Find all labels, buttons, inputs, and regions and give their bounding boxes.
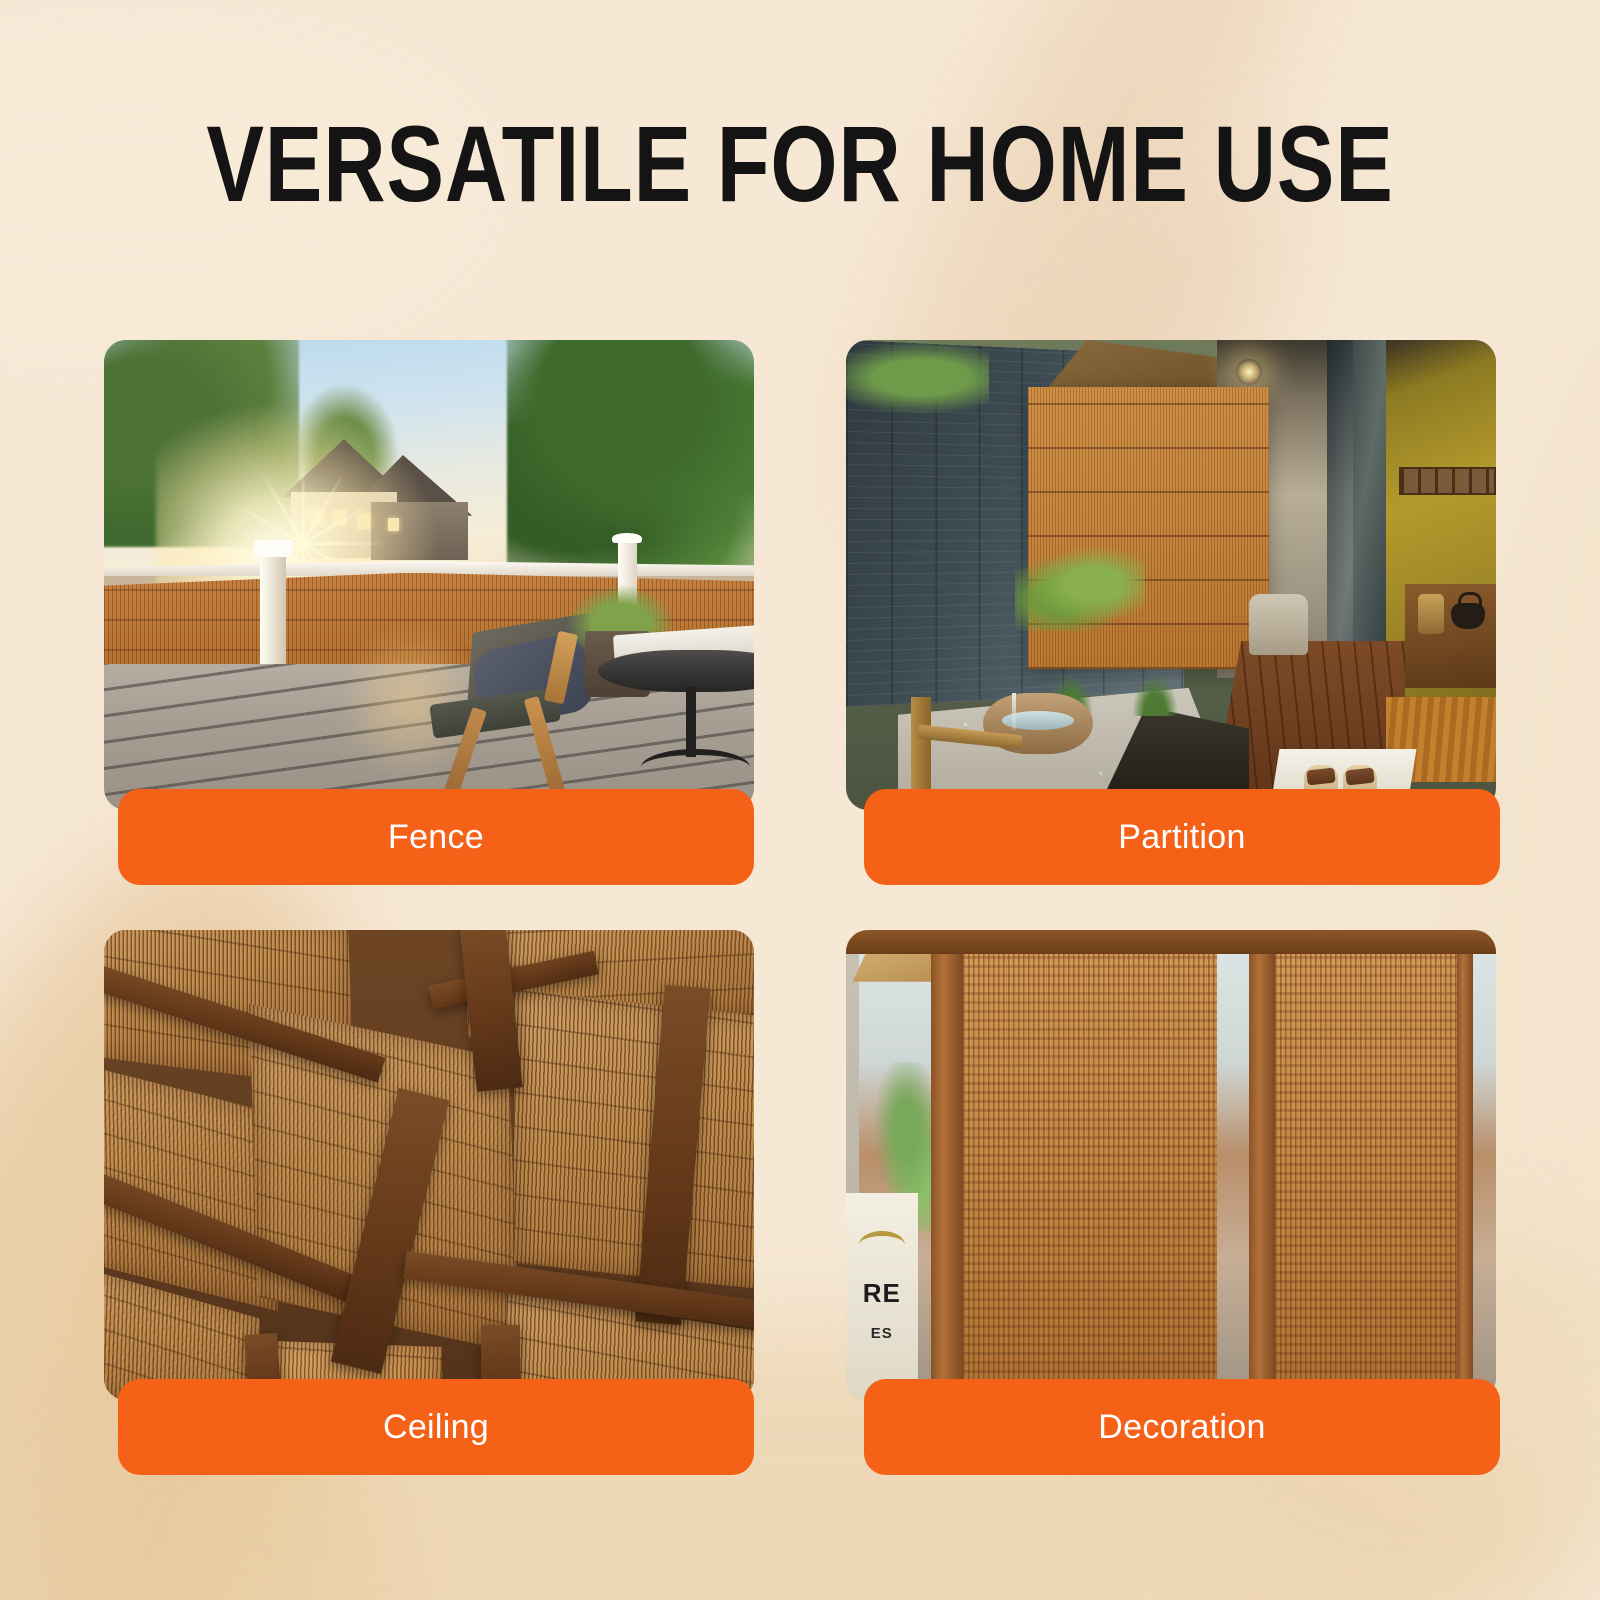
water-stream xyxy=(1012,693,1016,731)
scene-fence xyxy=(104,340,754,810)
photo-fence xyxy=(104,340,754,810)
photo-ceiling xyxy=(104,930,754,1400)
outdoor-view xyxy=(1470,930,1496,1400)
sign-text-line1: RE xyxy=(846,1278,918,1309)
reed-roller-blind xyxy=(1275,930,1470,1400)
card-label-decoration: Decoration xyxy=(864,1379,1500,1475)
card-label-fence: Fence xyxy=(118,789,754,885)
cup-shelf-rack xyxy=(1399,467,1497,495)
window-frame-header xyxy=(846,930,1496,954)
tree-foliage xyxy=(846,340,989,415)
sign-text-line2: ES xyxy=(846,1325,918,1342)
scene-ceiling xyxy=(104,930,754,1400)
card-label-text: Partition xyxy=(1118,818,1245,857)
card-label-text: Decoration xyxy=(1098,1408,1265,1447)
sign-arc-decoration xyxy=(859,1231,905,1259)
table-top xyxy=(598,650,754,692)
page-title: VERSATILE FOR HOME USE xyxy=(160,110,1440,218)
photo-partition xyxy=(846,340,1496,810)
maple-branch xyxy=(1015,547,1145,632)
use-case-card-partition[interactable]: Partition xyxy=(846,340,1496,885)
stone-stool xyxy=(1249,594,1308,655)
scene-partition xyxy=(846,340,1496,810)
window-frame-post xyxy=(1457,930,1473,1400)
reed-ceiling-panel xyxy=(514,990,755,1293)
ornamental-grass xyxy=(1132,674,1178,716)
window-frame-post xyxy=(1249,930,1275,1400)
use-case-card-decoration[interactable]: RE ES Decoration xyxy=(846,930,1496,1475)
table-base xyxy=(641,749,750,786)
window-frame-post xyxy=(931,930,964,1400)
use-case-card-fence[interactable]: Fence xyxy=(104,340,754,885)
table-pole xyxy=(686,687,696,758)
reed-roller-blind xyxy=(963,930,1217,1400)
use-case-card-ceiling[interactable]: Ceiling xyxy=(104,930,754,1475)
teapot-icon xyxy=(1451,603,1485,629)
ceramic-jar xyxy=(1418,594,1444,634)
card-label-text: Fence xyxy=(388,818,484,857)
use-case-grid: Fence xyxy=(104,340,1496,1475)
tree-right xyxy=(507,340,754,566)
side-table xyxy=(598,650,754,791)
card-label-ceiling: Ceiling xyxy=(118,1379,754,1475)
card-label-text: Ceiling xyxy=(383,1408,489,1447)
ceiling-light-icon xyxy=(1236,359,1262,385)
scene-decoration: RE ES xyxy=(846,930,1496,1400)
card-label-partition: Partition xyxy=(864,789,1500,885)
photo-decoration: RE ES xyxy=(846,930,1496,1400)
